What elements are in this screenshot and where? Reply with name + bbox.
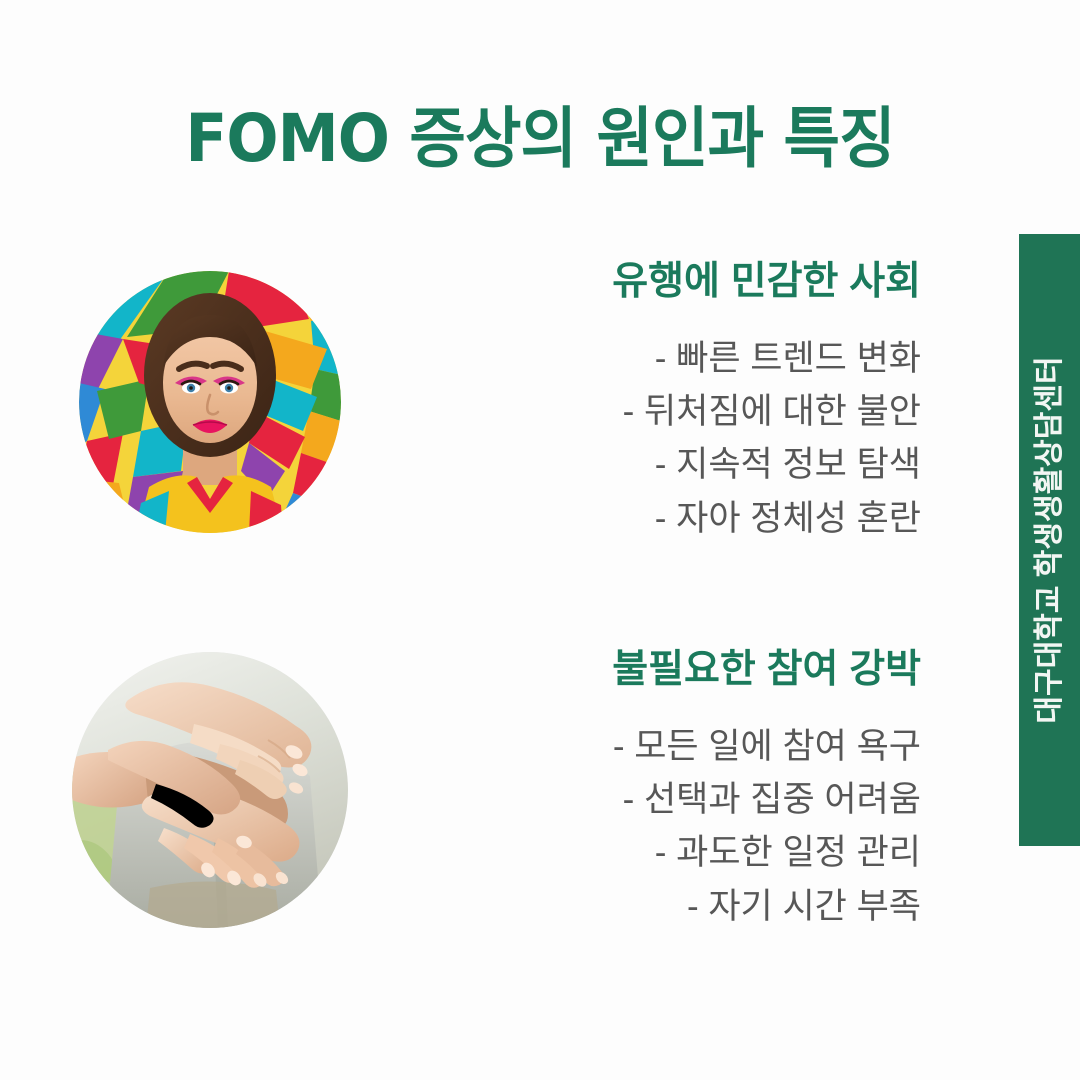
list-item: - 자기 시간 부족 bbox=[613, 880, 921, 933]
woman-colorful-collage-photo bbox=[79, 271, 341, 533]
section-unnecessary-participation-compulsion: 불필요한 참여 강박 - 모든 일에 참여 욕구 - 선택과 집중 어려움 - … bbox=[0, 620, 1019, 960]
list-item: - 선택과 집중 어려움 bbox=[613, 773, 921, 826]
organization-name-vertical: 대구대학교 학생생활상담센터 bbox=[1035, 356, 1065, 723]
list-item: - 지속적 정보 탐색 bbox=[623, 438, 921, 491]
list-item: - 빠른 트렌드 변화 bbox=[623, 332, 921, 385]
list-item: - 자아 정체성 혼란 bbox=[623, 492, 921, 545]
list-item: - 뒤처짐에 대한 불안 bbox=[623, 385, 921, 438]
list-item: - 과도한 일정 관리 bbox=[613, 826, 921, 879]
thumbnail-container-1 bbox=[0, 652, 420, 928]
stacked-hands-teamwork-photo bbox=[72, 652, 348, 928]
infographic-card: FOMO 증상의 원인과 특징 bbox=[0, 0, 1080, 1080]
section-heading: 불필요한 참여 강박 bbox=[612, 647, 921, 694]
text-column-0: 유행에 민감한 사회 - 빠른 트렌드 변화 - 뒤처짐에 대한 불안 - 지속… bbox=[420, 259, 1019, 545]
section-bullet-list: - 모든 일에 참여 욕구 - 선택과 집중 어려움 - 과도한 일정 관리 -… bbox=[613, 720, 921, 933]
section-heading: 유행에 민감한 사회 bbox=[612, 259, 921, 306]
thumbnail-container-0 bbox=[0, 271, 420, 533]
section-bullet-list: - 빠른 트렌드 변화 - 뒤처짐에 대한 불안 - 지속적 정보 탐색 - 자… bbox=[623, 332, 921, 545]
organization-side-band: 대구대학교 학생생활상담센터 bbox=[1019, 234, 1080, 846]
section-trend-sensitive-society: 유행에 민감한 사회 - 빠른 트렌드 변화 - 뒤처짐에 대한 불안 - 지속… bbox=[0, 232, 1019, 572]
list-item: - 모든 일에 참여 욕구 bbox=[613, 720, 921, 773]
page-title: FOMO 증상의 원인과 특징 bbox=[38, 102, 1042, 176]
text-column-1: 불필요한 참여 강박 - 모든 일에 참여 욕구 - 선택과 집중 어려움 - … bbox=[420, 647, 1019, 933]
